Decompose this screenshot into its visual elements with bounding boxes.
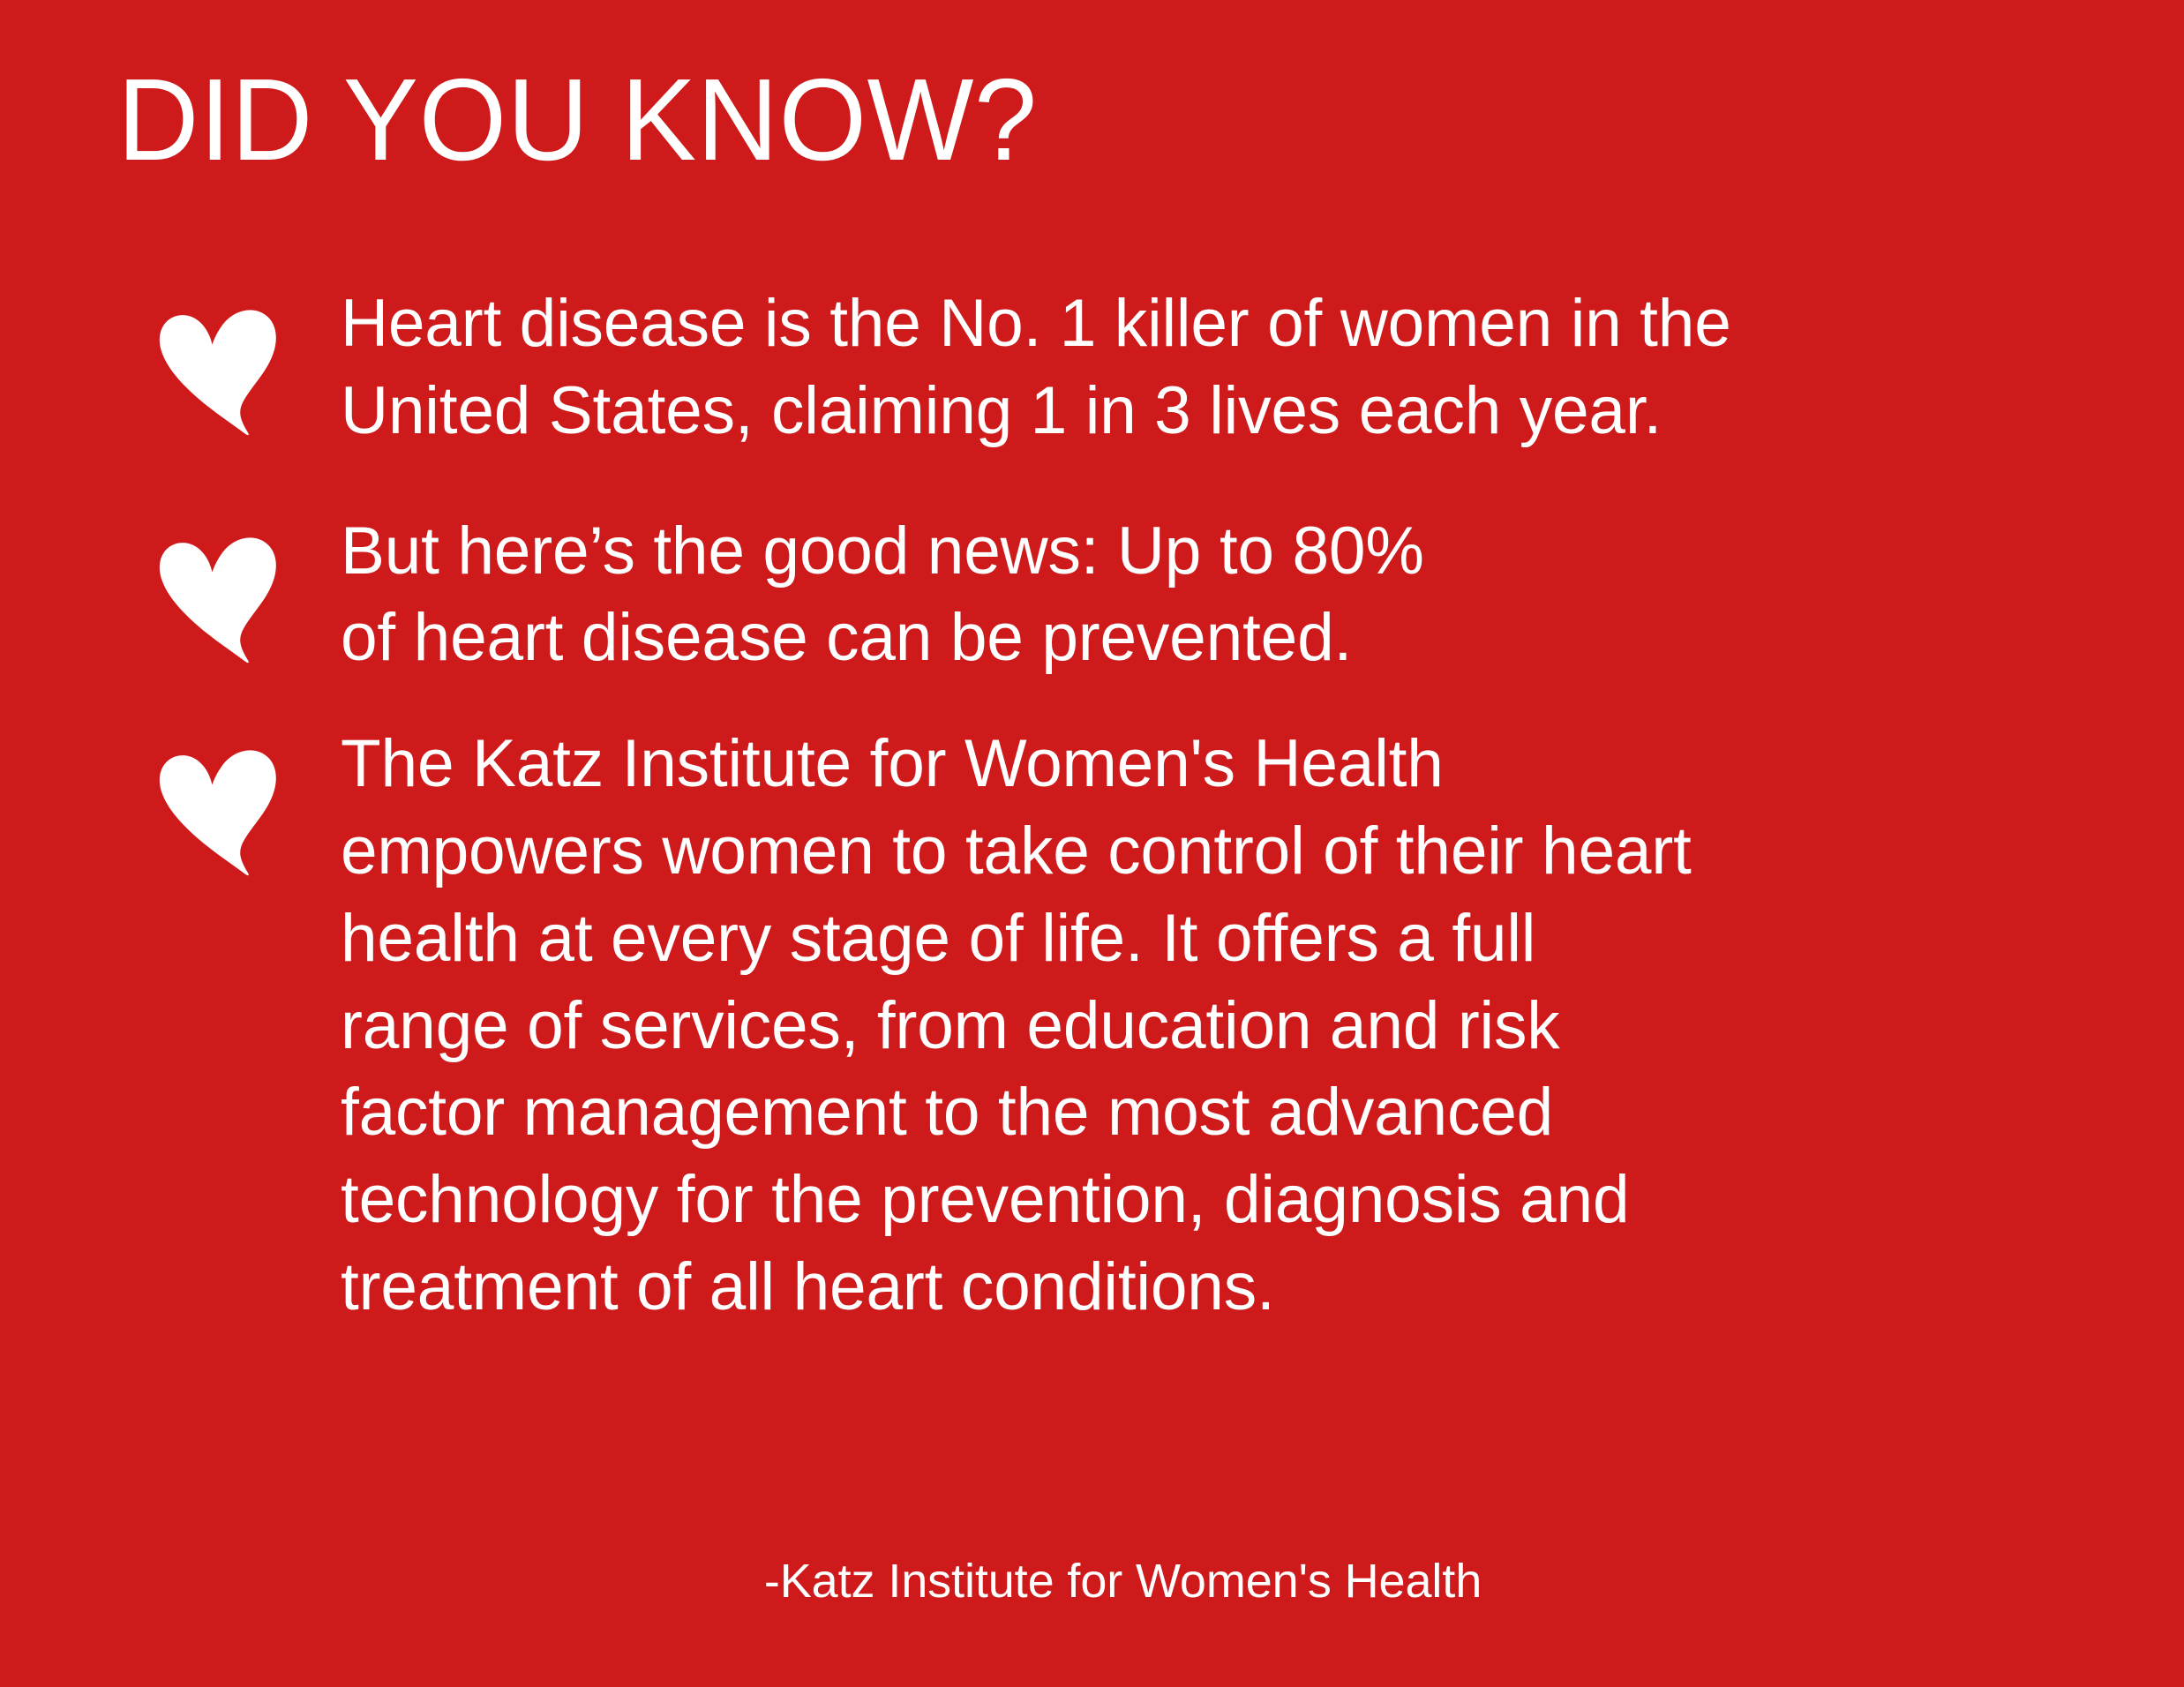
list-item: But here’s the good news: Up to 80% of h…	[0, 508, 2184, 683]
attribution-text: -Katz Institute for Women's Health	[0, 1553, 2184, 1610]
list-item: The Katz Institute for Women's Health em…	[0, 721, 2184, 1331]
list-item-text: The Katz Institute for Women's Health em…	[341, 721, 2088, 1331]
heart-icon	[157, 531, 281, 672]
list-item-text: Heart disease is the No. 1 killer of wom…	[341, 281, 2088, 455]
poster-canvas: DID YOU KNOW? Heart disease is the No. 1…	[0, 0, 2184, 1687]
list-item-text: But here’s the good news: Up to 80% of h…	[341, 508, 2088, 683]
heart-icon	[157, 744, 281, 885]
list-item: Heart disease is the No. 1 killer of wom…	[0, 281, 2184, 455]
bullet-list: Heart disease is the No. 1 killer of wom…	[0, 281, 2184, 1331]
heart-icon	[157, 304, 281, 445]
page-title: DID YOU KNOW?	[117, 55, 1038, 185]
